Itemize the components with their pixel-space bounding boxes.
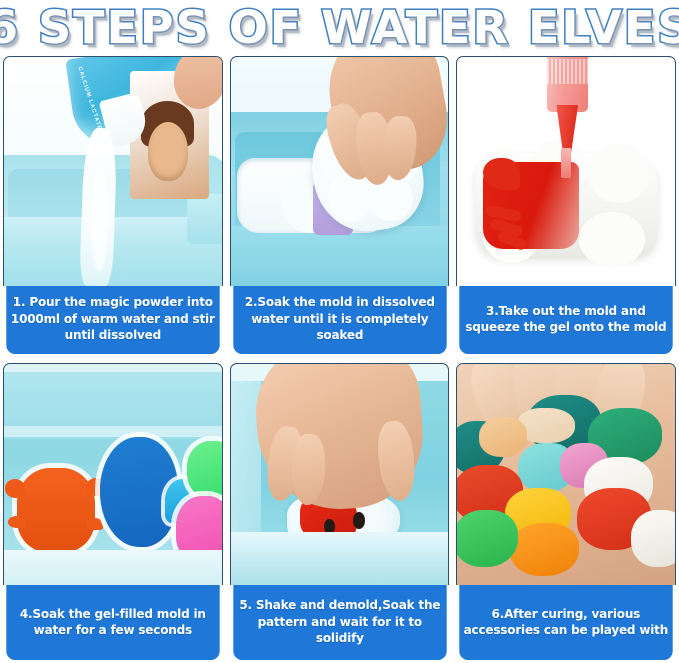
gel-bottle-cap-ridges	[547, 59, 588, 84]
step-photo-3	[456, 56, 676, 286]
step-caption-2: 2.Soak the mold in dissolved water until…	[233, 286, 446, 354]
step-photo-6	[456, 363, 676, 586]
step-card-5: 5. Shake and demold,Soak the pattern and…	[230, 363, 450, 661]
packet-kid-face	[148, 122, 189, 181]
cream-jelly-figure	[479, 417, 527, 457]
figure-eye	[353, 512, 365, 529]
tub-ledge	[3, 426, 223, 437]
tub-front-rim	[3, 550, 223, 585]
orange-jelly-figure	[510, 523, 580, 576]
step-card-6: 6.After curing, various accessories can …	[456, 363, 676, 661]
steps-grid: CALCIUM LACTATE 1. Pour the magic powder…	[0, 56, 679, 663]
step-caption-3: 3.Take out the mold and squeeze the gel …	[460, 286, 673, 354]
step-photo-4	[3, 363, 223, 586]
step-photo-1: CALCIUM LACTATE	[3, 56, 223, 286]
crab-claw-left	[483, 158, 520, 190]
crab-claw	[5, 479, 25, 498]
mold-bump	[579, 212, 644, 267]
step-card-2: 2.Soak the mold in dissolved water until…	[230, 56, 450, 354]
water-elves-infographic: 6 STEPS OF WATER ELVES CALCIUM LACTATE	[0, 0, 679, 663]
step-card-4: 4.Soak the gel-filled mold in water for …	[3, 363, 223, 661]
step-card-3: 3.Take out the mold and squeeze the gel …	[456, 56, 676, 354]
green-jelly-figure-2	[456, 510, 518, 568]
step-caption-4: 4.Soak the gel-filled mold in water for …	[6, 585, 219, 660]
step-caption-5: 5. Shake and demold,Soak the pattern and…	[233, 585, 446, 660]
step-photo-5	[230, 363, 450, 586]
crab-leg	[8, 516, 25, 528]
step-photo-2	[230, 56, 450, 286]
step-caption-1: 1. Pour the magic powder into 1000ml of …	[6, 286, 219, 354]
mold-bump	[588, 144, 649, 203]
step-card-1: CALCIUM LACTATE 1. Pour the magic powder…	[3, 56, 223, 354]
tub-front-rim	[230, 532, 450, 585]
crab-leg	[86, 518, 103, 530]
title-bar: 6 STEPS OF WATER ELVES	[0, 0, 679, 56]
white-jelly-figure-2	[631, 510, 676, 568]
gel-bottle-nozzle-tip	[561, 148, 571, 178]
step-caption-6: 6.After curing, various accessories can …	[460, 585, 673, 660]
page-title: 6 STEPS OF WATER ELVES	[0, 5, 679, 51]
orange-crab-figure	[17, 468, 95, 552]
tub-handle	[187, 194, 223, 244]
green-figure	[187, 441, 223, 499]
